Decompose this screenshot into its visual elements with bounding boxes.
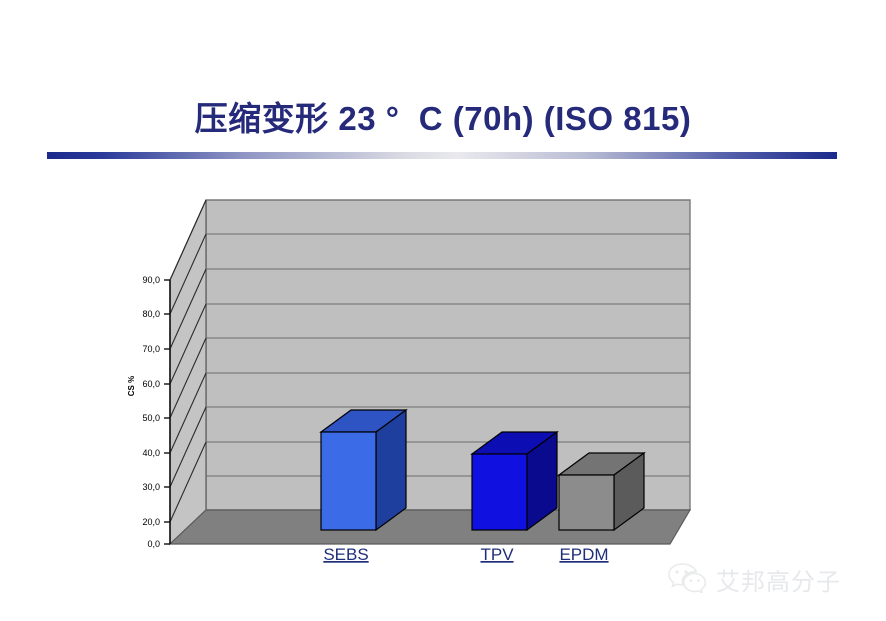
bar-epdm-face xyxy=(559,475,614,530)
watermark: 艾邦高分子 xyxy=(666,556,872,602)
bar-sebs-face xyxy=(321,432,376,530)
y-tick-label: 90,0 xyxy=(142,275,160,285)
bar-tpv[interactable] xyxy=(472,432,557,530)
bar-sebs[interactable] xyxy=(321,410,406,530)
y-tick-label: 60,0 xyxy=(142,379,160,389)
y-axis-title: CS % xyxy=(127,376,136,396)
title-divider xyxy=(47,152,837,159)
y-tick-label: 30,0 xyxy=(142,482,160,492)
category-label-sebs: SEBS xyxy=(323,545,368,564)
category-label-tpv: TPV xyxy=(480,545,514,564)
bar-tpv-face xyxy=(472,454,527,530)
y-axis-ticks xyxy=(164,280,170,544)
bar-sebs-side xyxy=(376,410,406,530)
wechat-icon xyxy=(666,561,708,598)
bar-chart: 90,0 80,0 70,0 60,0 50,0 40,0 30,0 20,0 … xyxy=(110,186,710,576)
page-title: 压缩变形 23 ° C (70h) (ISO 815) xyxy=(0,92,886,140)
y-tick-label: 70,0 xyxy=(142,344,160,354)
category-label-epdm: EPDM xyxy=(559,545,608,564)
y-tick-label: 80,0 xyxy=(142,309,160,319)
chart-canvas: 90,0 80,0 70,0 60,0 50,0 40,0 30,0 20,0 … xyxy=(110,186,710,576)
y-tick-label: 0,0 xyxy=(147,539,160,549)
y-tick-label: 20,0 xyxy=(142,517,160,527)
watermark-text: 艾邦高分子 xyxy=(716,562,841,597)
y-tick-label: 50,0 xyxy=(142,413,160,423)
y-tick-label: 40,0 xyxy=(142,448,160,458)
